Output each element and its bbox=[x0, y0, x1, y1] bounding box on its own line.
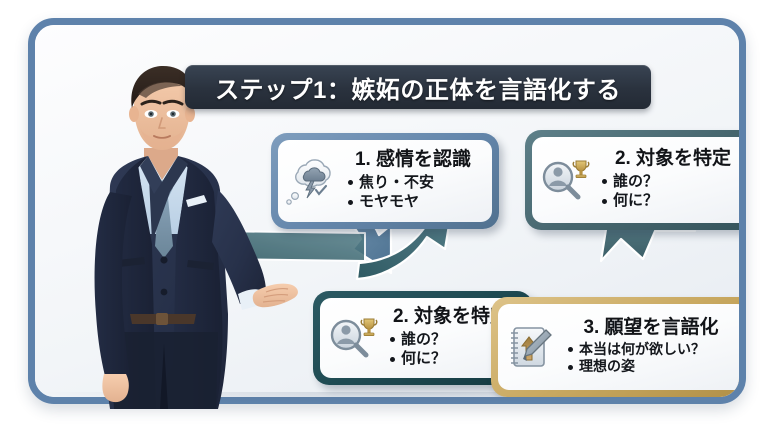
page-title: ステップ1：嫉妬の正体を言語化する bbox=[215, 70, 621, 105]
card-1-title: 1. 感情を認識 bbox=[342, 150, 484, 171]
list-item: 何に？ bbox=[602, 191, 746, 210]
card-4-title: 3. 願望を言語化 bbox=[562, 318, 740, 339]
card-4-bullets: 本当は何が欲しい？ 理想の姿 bbox=[562, 341, 740, 377]
list-item: モヤモヤ bbox=[348, 192, 484, 211]
list-item: 理想の姿 bbox=[568, 358, 740, 376]
card-1-face: 1. 感情を認識 焦り・不安 モヤモヤ bbox=[278, 140, 492, 222]
magnifier-person-trophy-icon bbox=[324, 309, 382, 367]
magnifier-person-trophy-icon bbox=[536, 151, 594, 209]
card-2-title: 2. 対象を特定 bbox=[596, 149, 746, 170]
card-1-bullets: 焦り・不安 モヤモヤ bbox=[342, 173, 484, 211]
businessman-presenter bbox=[52, 64, 302, 409]
card-4-face: 3. 願望を言語化 本当は何が欲しい？ 理想の姿 bbox=[498, 304, 746, 390]
list-item: 本当は何が欲しい？ bbox=[568, 341, 740, 359]
card-2-bullets: 誰の？ 何に？ bbox=[596, 172, 746, 210]
slide-canvas: ステップ1：嫉妬の正体を言語化する bbox=[0, 0, 760, 425]
notebook-pencil-arrow-icon bbox=[502, 318, 560, 376]
card-2-face: 2. 対象を特定 誰の？ 何に？ bbox=[532, 137, 746, 223]
list-item: 誰の？ bbox=[602, 172, 746, 191]
step-card-1[interactable]: 1. 感情を認識 焦り・不安 モヤモヤ bbox=[271, 133, 499, 229]
list-item: 焦り・不安 bbox=[348, 173, 484, 192]
step-card-4[interactable]: 3. 願望を言語化 本当は何が欲しい？ 理想の姿 bbox=[491, 297, 746, 397]
step-card-2[interactable]: 2. 対象を特定 誰の？ 何に？ bbox=[525, 130, 746, 230]
slide-title-bar: ステップ1：嫉妬の正体を言語化する bbox=[185, 65, 651, 109]
